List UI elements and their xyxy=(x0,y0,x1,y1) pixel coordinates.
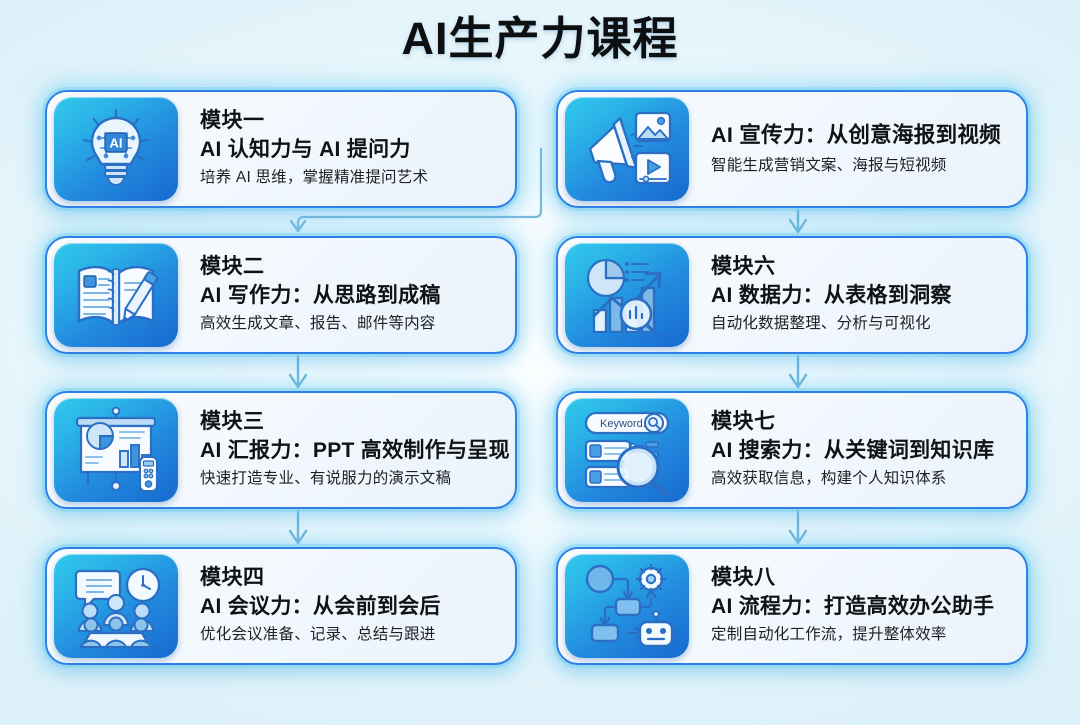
module-description: 高效获取信息，构建个人知识体系 xyxy=(711,466,1012,492)
module-card-6[interactable]: 模块六 AI 数据力：从表格到洞察 自动化数据整理、分析与可视化 xyxy=(556,236,1028,354)
module-title: AI 流程力：打造高效办公助手 xyxy=(711,592,1012,622)
connector-module6-to-module7 xyxy=(790,356,806,387)
workflow-robot-icon xyxy=(565,554,689,658)
search-knowledge-icon: Keyword... xyxy=(565,398,689,502)
module-label: 模块一 xyxy=(200,107,501,135)
module-card-4-text: 模块四 AI 会议力：从会前到会后 优化会议准备、记录、总结与跟进 xyxy=(178,564,515,648)
svg-text:AI: AI xyxy=(110,136,123,151)
module-label: 模块八 xyxy=(711,564,1012,592)
module-label: 模块二 xyxy=(200,253,501,281)
connector-module2-to-module3 xyxy=(290,356,306,387)
module-label: 模块七 xyxy=(711,408,1012,436)
module-card-8-text: 模块八 AI 流程力：打造高效办公助手 定制自动化工作流，提升整体效率 xyxy=(689,564,1026,648)
presentation-board-icon xyxy=(54,398,178,502)
module-title: AI 会议力：从会前到会后 xyxy=(200,592,501,622)
module-description: 智能生成营销文案、海报与短视频 xyxy=(711,152,1012,180)
module-title: AI 汇报力：PPT 高效制作与呈现 xyxy=(200,436,501,466)
module-description: 定制自动化工作流，提升整体效率 xyxy=(711,622,1012,648)
module-card-5[interactable]: AI 宣传力：从创意海报到视频 智能生成营销文案、海报与短视频 xyxy=(556,90,1028,208)
course-roadmap-board: AI生产力课程 xyxy=(0,0,1080,725)
module-card-6-text: 模块六 AI 数据力：从表格到洞察 自动化数据整理、分析与可视化 xyxy=(689,253,1026,337)
meeting-people-icon xyxy=(54,554,178,658)
module-card-1-text: 模块一 AI 认知力与 AI 提问力 培养 AI 思维，掌握精准提问艺术 xyxy=(178,107,515,191)
lightbulb-ai-icon: AI xyxy=(54,97,178,201)
connector-module5-to-module6 xyxy=(790,210,806,232)
module-title: AI 认知力与 AI 提问力 xyxy=(200,135,501,165)
chart-analytics-icon xyxy=(565,243,689,347)
module-card-3[interactable]: 模块三 AI 汇报力：PPT 高效制作与呈现 快速打造专业、有说服力的演示文稿 xyxy=(45,391,517,509)
module-title: AI 数据力：从表格到洞察 xyxy=(711,281,1012,311)
module-title: AI 搜索力：从关键词到知识库 xyxy=(711,436,1012,466)
module-card-8[interactable]: 模块八 AI 流程力：打造高效办公助手 定制自动化工作流，提升整体效率 xyxy=(556,547,1028,665)
module-description: 优化会议准备、记录、总结与跟进 xyxy=(200,622,501,648)
module-card-3-text: 模块三 AI 汇报力：PPT 高效制作与呈现 快速打造专业、有说服力的演示文稿 xyxy=(178,408,515,492)
module-title: AI 宣传力：从创意海报到视频 xyxy=(711,118,1012,152)
module-card-1[interactable]: AI 模块一 AI 认知力与 AI 提问力 培养 AI 思维，掌握精准提问艺术 xyxy=(45,90,517,208)
connector-module7-to-module8 xyxy=(790,511,806,543)
module-title: AI 写作力：从思路到成稿 xyxy=(200,281,501,311)
module-label: 模块四 xyxy=(200,564,501,592)
connector-module3-to-module4 xyxy=(290,511,306,543)
module-description: 快速打造专业、有说服力的演示文稿 xyxy=(200,466,501,492)
module-card-7[interactable]: Keyword... xyxy=(556,391,1028,509)
module-card-4[interactable]: 模块四 AI 会议力：从会前到会后 优化会议准备、记录、总结与跟进 xyxy=(45,547,517,665)
module-card-2-text: 模块二 AI 写作力：从思路到成稿 高效生成文章、报告、邮件等内容 xyxy=(178,253,515,337)
module-label: 模块三 xyxy=(200,408,501,436)
module-label: 模块六 xyxy=(711,253,1012,281)
page-title-container: AI生产力课程 xyxy=(0,8,1080,70)
notebook-pen-icon xyxy=(54,243,178,347)
module-card-5-text: AI 宣传力：从创意海报到视频 智能生成营销文案、海报与短视频 xyxy=(689,118,1026,180)
module-description: 高效生成文章、报告、邮件等内容 xyxy=(200,311,501,337)
module-card-7-text: 模块七 AI 搜索力：从关键词到知识库 高效获取信息，构建个人知识体系 xyxy=(689,408,1026,492)
megaphone-media-icon xyxy=(565,97,689,201)
module-card-2[interactable]: 模块二 AI 写作力：从思路到成稿 高效生成文章、报告、邮件等内容 xyxy=(45,236,517,354)
page-title: AI生产力课程 xyxy=(0,8,1080,70)
module-description: 自动化数据整理、分析与可视化 xyxy=(711,311,1012,337)
module-description: 培养 AI 思维，掌握精准提问艺术 xyxy=(200,165,501,191)
